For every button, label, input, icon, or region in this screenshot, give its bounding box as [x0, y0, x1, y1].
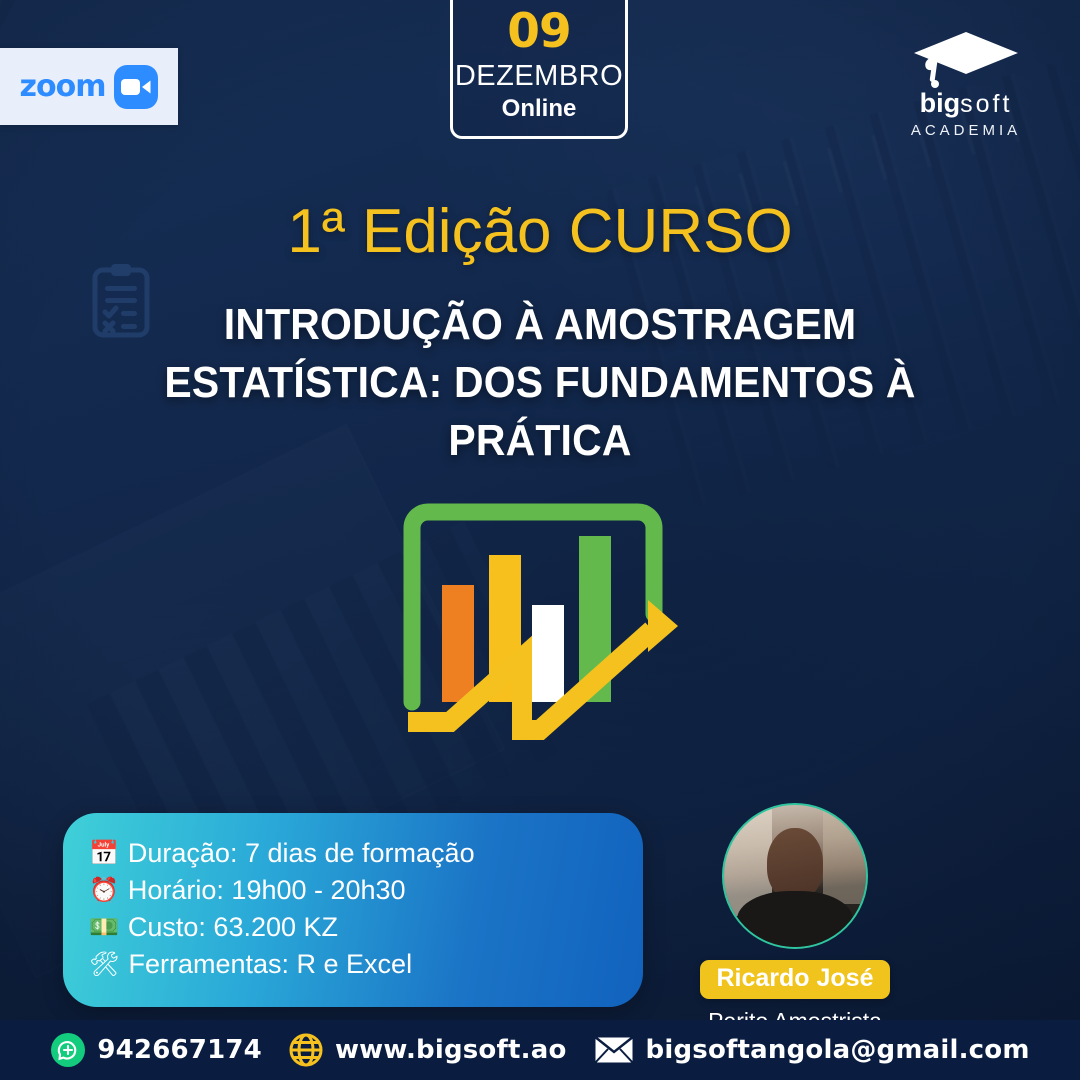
contact-phone[interactable]: 942667174: [50, 1032, 262, 1068]
contact-website[interactable]: www.bigsoft.ao: [288, 1032, 567, 1068]
contact-footer: 942667174 www.bigsoft.ao bigsoftangola@g…: [0, 1020, 1080, 1080]
zoom-wordmark: zoom: [20, 69, 106, 104]
avatar-body: [737, 891, 853, 949]
envelope-icon: [593, 1035, 635, 1065]
alarm-clock-icon: ⏰: [89, 878, 119, 902]
page-title: INTRODUÇÃO À AMOSTRAGEM ESTATÍSTICA: DOS…: [140, 296, 940, 470]
date-badge: 09 DEZEMBRO Online: [450, 0, 628, 139]
detail-text-tools: Ferramentas: R e Excel: [128, 946, 412, 983]
tools-icon: 🛠: [89, 952, 119, 976]
detail-text-schedule: Horário: 19h00 - 20h30: [128, 872, 406, 909]
contact-phone-text: 942667174: [97, 1035, 262, 1065]
date-month: DEZEMBRO: [453, 58, 625, 94]
detail-text-price: Custo: 63.200 KZ: [128, 909, 338, 946]
contact-email-text: bigsoftangola@gmail.com: [646, 1035, 1030, 1065]
contact-email[interactable]: bigsoftangola@gmail.com: [593, 1035, 1030, 1065]
instructor-block: Ricardo José Perito Amostrista: [700, 803, 890, 1035]
video-camera-icon: [114, 65, 158, 109]
avatar: [722, 803, 868, 949]
brand-name: bigsoft: [876, 90, 1056, 117]
brand-subtitle: ACADEMIA: [876, 122, 1056, 139]
whatsapp-icon: [50, 1032, 86, 1068]
clipboard-checklist-icon: [92, 262, 150, 338]
course-details-card: 📅 Duração: 7 dias de formação ⏰ Horário:…: [63, 813, 643, 1007]
detail-row-schedule: ⏰ Horário: 19h00 - 20h30: [89, 872, 617, 909]
date-mode: Online: [453, 95, 625, 124]
detail-row-price: 💵 Custo: 63.200 KZ: [89, 909, 617, 946]
brand-logo: bigsoft ACADEMIA: [876, 26, 1056, 139]
poster-canvas: zoom 09 DEZEMBRO Online bigsoft ACADEMIA…: [0, 0, 1080, 1080]
avatar-face: [767, 828, 823, 900]
calendar-icon: 📅: [89, 841, 119, 865]
globe-icon: [288, 1032, 324, 1068]
chart-bar-3: [532, 605, 564, 702]
detail-row-duration: 📅 Duração: 7 dias de formação: [89, 835, 617, 872]
detail-text-duration: Duração: 7 dias de formação: [128, 835, 475, 872]
detail-row-tools: 🛠 Ferramentas: R e Excel: [89, 946, 617, 983]
brand-name-bold: big: [920, 88, 961, 118]
zoom-logo: zoom: [0, 48, 178, 125]
brand-name-light: soft: [960, 90, 1012, 118]
instructor-name-badge: Ricardo José: [700, 960, 889, 999]
contact-website-text: www.bigsoft.ao: [335, 1035, 567, 1065]
date-day: 09: [453, 8, 625, 55]
edition-label: 1ª Edição CURSO: [0, 196, 1080, 267]
bar-chart-growth-icon: [390, 490, 690, 760]
avatar-background-right: [823, 805, 866, 904]
graduation-cap-icon: [910, 26, 1022, 96]
chart-bar-1: [442, 585, 474, 702]
money-icon: 💵: [89, 915, 119, 939]
